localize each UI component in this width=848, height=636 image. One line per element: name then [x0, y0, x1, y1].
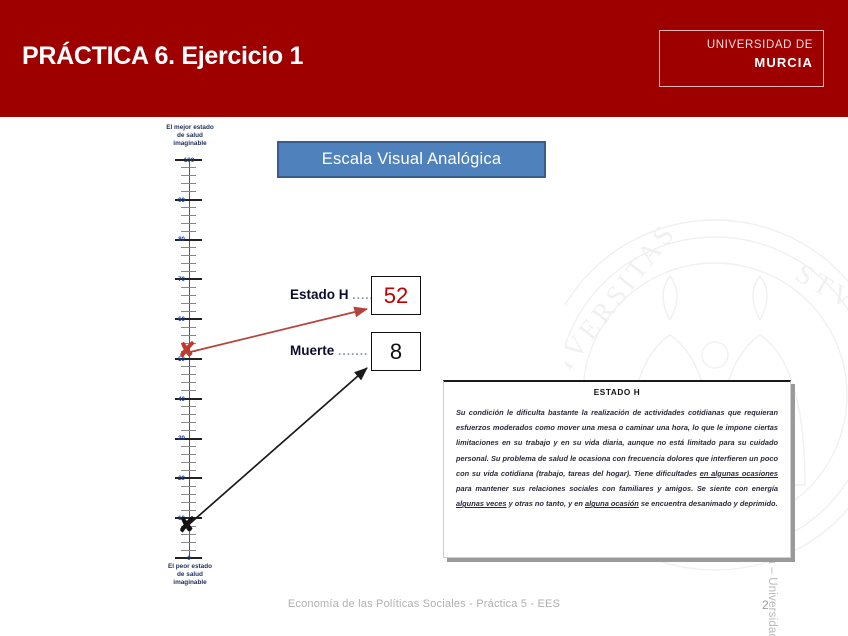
vas-tick-minor — [181, 550, 196, 551]
vas-tick-minor — [181, 287, 196, 288]
panel-body-text: Su condición le dificulta bastante la re… — [456, 405, 778, 511]
panel-title: ESTADO H — [444, 388, 790, 397]
vas-tick-minor — [181, 462, 196, 463]
university-logo: UNIVERSIDAD DE MURCIA — [659, 30, 824, 87]
vas-bottom-caption: El peor estado de salud imaginable — [140, 563, 240, 587]
row-dots-muerte: ....... — [338, 344, 368, 358]
vas-tick-minor — [181, 215, 196, 216]
chart-title-label: Escala Visual Analógica — [322, 150, 502, 169]
vas-top-caption-l1: El mejor estado — [140, 124, 240, 132]
vas-tick-minor — [181, 223, 196, 224]
value-muerte: 8 — [390, 339, 402, 365]
panel-text-run: y otras no tanto, y en — [507, 499, 585, 508]
estado-h-panel: ESTADO H Su condición le dificulta basta… — [443, 380, 791, 558]
vas-tick-minor — [181, 390, 196, 391]
vas-tick-minor — [181, 327, 196, 328]
row-label-muerte: Muerte ....... — [290, 343, 368, 358]
vas-tick-minor — [181, 454, 196, 455]
vas-tick-minor — [181, 510, 196, 511]
logo-line-2: MURCIA — [754, 55, 813, 70]
slide: PRÁCTICA 6. Ejercicio 1 UNIVERSIDAD DE M… — [0, 0, 848, 636]
vas-tick-minor — [181, 335, 196, 336]
vas-tick-minor — [181, 175, 196, 176]
value-estado-h: 52 — [384, 283, 408, 309]
value-box-muerte[interactable]: 8 — [371, 332, 421, 371]
vas-tick-minor — [181, 542, 196, 543]
vas-tick-minor — [181, 374, 196, 375]
vas-tick-minor — [181, 502, 196, 503]
vas-bottom-caption-l3: imaginable — [140, 579, 240, 587]
page-title: PRÁCTICA 6. Ejercicio 1 — [22, 42, 303, 71]
panel-text-run: Su condición le dificulta bastante la re… — [456, 408, 778, 478]
vas-tick-minor — [181, 295, 196, 296]
vas-tick-minor — [181, 207, 196, 208]
vas-tick-minor — [181, 446, 196, 447]
panel-text-run: se encuentra desanimado y deprimido. — [639, 499, 778, 508]
vas-tick-minor — [181, 414, 196, 415]
vas-number-40: 40 — [155, 396, 185, 403]
vas-tick-minor — [181, 263, 196, 264]
chart-title-box: Escala Visual Analógica — [277, 141, 546, 178]
vas-tick-minor — [181, 183, 196, 184]
row-label-estado-h: Estado H ..... — [290, 287, 374, 302]
slide-header: PRÁCTICA 6. Ejercicio 1 UNIVERSIDAD DE M… — [0, 0, 848, 117]
vas-number-30: 30 — [155, 435, 185, 442]
marker-muerte[interactable]: ✘ — [178, 515, 196, 536]
vas-tick-minor — [181, 366, 196, 367]
vas-tick-minor — [181, 422, 196, 423]
vas-number-90: 90 — [155, 197, 185, 204]
vas-tick-minor — [181, 231, 196, 232]
vas-tick-minor — [181, 486, 196, 487]
row-label-estado-h-text: Estado H — [290, 287, 349, 302]
vas-number-100: 100 — [174, 157, 204, 164]
side-copyright-wrap: © Dpto. Economía Aplicada – Universidad … — [820, 196, 840, 556]
vas-top-caption: El mejor estado de salud imaginable — [140, 124, 240, 148]
panel-text-underlined: en algunas ocasiones — [700, 469, 778, 478]
vas-tick-minor — [181, 247, 196, 248]
logo-line-1: UNIVERSIDAD DE — [707, 39, 813, 51]
vas-tick-minor — [181, 303, 196, 304]
vas-tick-minor — [181, 311, 196, 312]
vas-bottom-caption-l2: de salud — [140, 571, 240, 579]
vas-number-0: 0 — [174, 555, 204, 562]
vas-tick-minor — [181, 430, 196, 431]
row-label-muerte-text: Muerte — [290, 343, 334, 358]
panel-text-underlined: alguna ocasión — [585, 499, 639, 508]
vas-tick-minor — [181, 255, 196, 256]
vas-bottom-caption-l1: El peor estado — [140, 563, 240, 571]
vas-tick-minor — [181, 191, 196, 192]
panel-text-run: para mantener sus relaciones sociales co… — [456, 484, 778, 493]
vas-tick-minor — [181, 382, 196, 383]
vas-tick-minor — [181, 167, 196, 168]
panel-text-underlined: algunas veces — [456, 499, 507, 508]
vas-tick-minor — [181, 271, 196, 272]
vas-top-caption-l3: imaginable — [140, 140, 240, 148]
vas-number-20: 20 — [155, 475, 185, 482]
vas-scale: El mejor estado de salud imaginable 1009… — [140, 124, 240, 574]
marker-estado-h[interactable]: ✘ — [178, 340, 196, 361]
value-box-estado-h[interactable]: 52 — [371, 276, 421, 315]
vas-number-60: 60 — [155, 316, 185, 323]
vas-number-80: 80 — [155, 236, 185, 243]
page-number: 2 — [762, 598, 769, 612]
vas-top-caption-l2: de salud — [140, 132, 240, 140]
vas-tick-minor — [181, 406, 196, 407]
vas-tick-minor — [181, 470, 196, 471]
vas-tick-minor — [181, 494, 196, 495]
footer-text: Economía de las Políticas Sociales - Prá… — [0, 598, 848, 610]
vas-number-70: 70 — [155, 276, 185, 283]
